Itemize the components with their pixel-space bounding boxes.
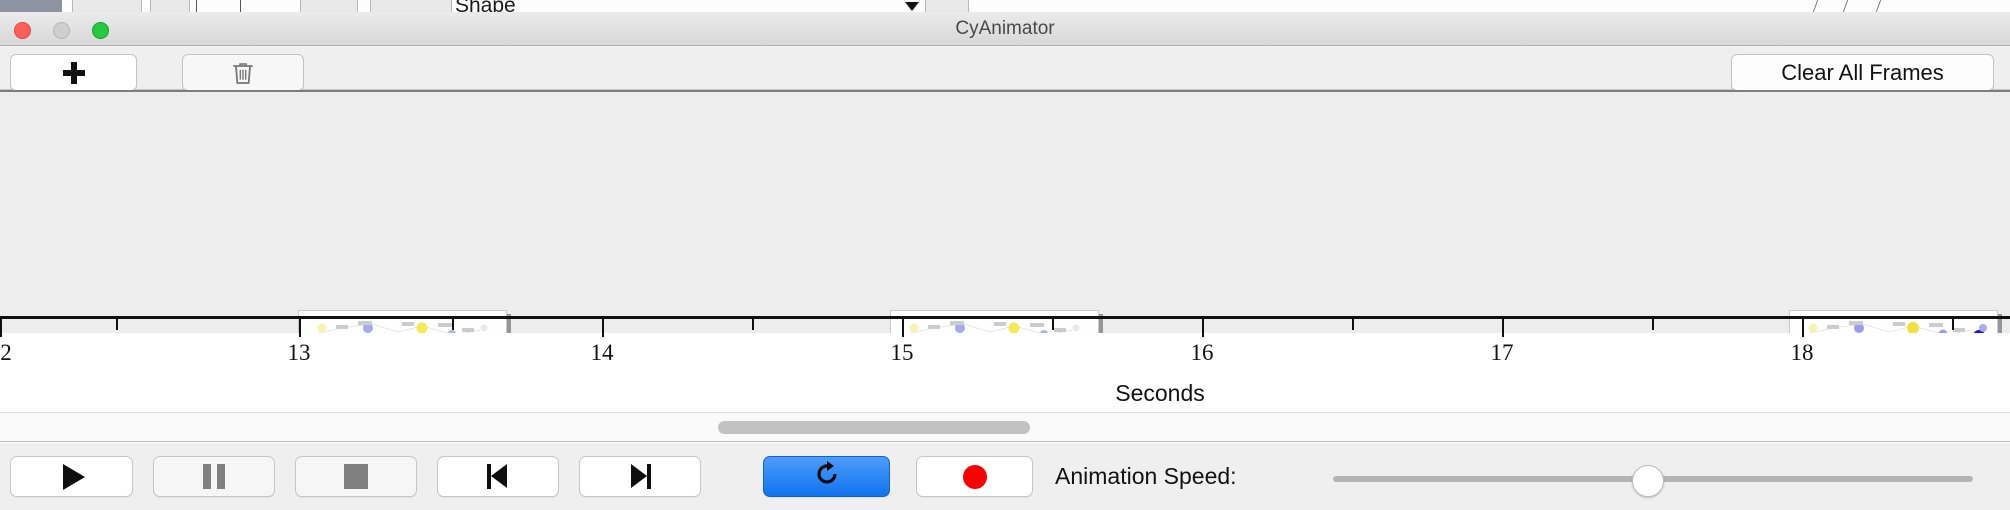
ruler-tick-label: 2	[0, 340, 12, 366]
timeline-axis-title: Seconds	[0, 380, 2010, 407]
background-tick	[196, 0, 197, 12]
background-tick	[1843, 0, 1848, 12]
ruler-baseline	[0, 316, 2010, 319]
pause-button[interactable]	[153, 456, 275, 497]
trash-icon	[232, 61, 254, 85]
window-title: CyAnimator	[0, 12, 2010, 46]
ruler-tick	[902, 319, 904, 337]
record-button[interactable]	[916, 456, 1033, 497]
skip-previous-button[interactable]	[437, 456, 559, 497]
ruler-tick	[602, 319, 604, 337]
ruler-tick	[1202, 319, 1204, 337]
skip-previous-icon	[487, 464, 509, 489]
loop-button[interactable]	[763, 456, 890, 497]
ruler-tick	[752, 319, 754, 330]
ruler-tick-label: 16	[1191, 340, 1214, 366]
background-chip	[72, 0, 142, 12]
timeline-panel[interactable]: MCM1	[0, 90, 2010, 333]
background-tick	[240, 0, 241, 12]
ruler-tick	[452, 319, 454, 330]
background-chip	[925, 0, 969, 12]
background-toolbar-chip	[0, 0, 62, 12]
background-tick	[1876, 0, 1881, 12]
clear-all-frames-button[interactable]: Clear All Frames	[1731, 54, 1994, 91]
play-icon	[63, 464, 85, 490]
ruler-tick	[1052, 319, 1054, 330]
ruler-tick	[1802, 319, 1804, 337]
add-frame-button[interactable]	[10, 54, 137, 91]
ruler-tick	[299, 319, 301, 337]
scrollbar-thumb[interactable]	[718, 421, 1030, 434]
ruler-tick	[0, 319, 2, 337]
axis-title-text: Seconds	[1115, 380, 1205, 407]
skip-next-button[interactable]	[579, 456, 701, 497]
animation-speed-slider-thumb[interactable]	[1632, 465, 1664, 497]
pause-icon	[203, 464, 225, 489]
loop-icon	[813, 460, 841, 493]
ruler-tick	[1352, 319, 1354, 330]
background-chip	[150, 0, 190, 12]
ruler-tick	[1652, 319, 1654, 330]
record-icon	[963, 465, 987, 489]
stop-icon	[344, 464, 368, 489]
toolbar: Clear All Frames	[0, 46, 2010, 90]
plus-icon	[62, 61, 86, 85]
ruler-tick-label: 17	[1491, 340, 1514, 366]
stop-button[interactable]	[295, 456, 417, 497]
ruler-tick	[116, 319, 118, 330]
clear-all-frames-label: Clear All Frames	[1781, 60, 1944, 86]
skip-next-icon	[629, 464, 651, 489]
background-chip	[370, 0, 452, 12]
delete-frame-button[interactable]	[182, 54, 304, 91]
ruler-tick-label: 18	[1791, 340, 1814, 366]
ruler-tick	[1952, 319, 1954, 330]
play-button[interactable]	[10, 456, 133, 497]
ruler-tick-label: 13	[288, 340, 311, 366]
horizontal-scrollbar[interactable]	[0, 412, 2010, 442]
background-chip	[300, 0, 358, 12]
ruler-tick-label: 14	[591, 340, 614, 366]
cyanimator-window: Shape CyAnimator Cl	[0, 0, 2010, 510]
timeline-ruler[interactable]: 2 13 14 15 16 17 18	[0, 316, 2010, 370]
background-caret-icon	[905, 2, 919, 11]
background-tick	[1813, 0, 1818, 12]
title-bar: CyAnimator	[0, 12, 2010, 46]
animation-speed-label: Animation Speed:	[1055, 456, 1237, 497]
ruler-tick-label: 15	[891, 340, 914, 366]
ruler-tick	[1502, 319, 1504, 337]
